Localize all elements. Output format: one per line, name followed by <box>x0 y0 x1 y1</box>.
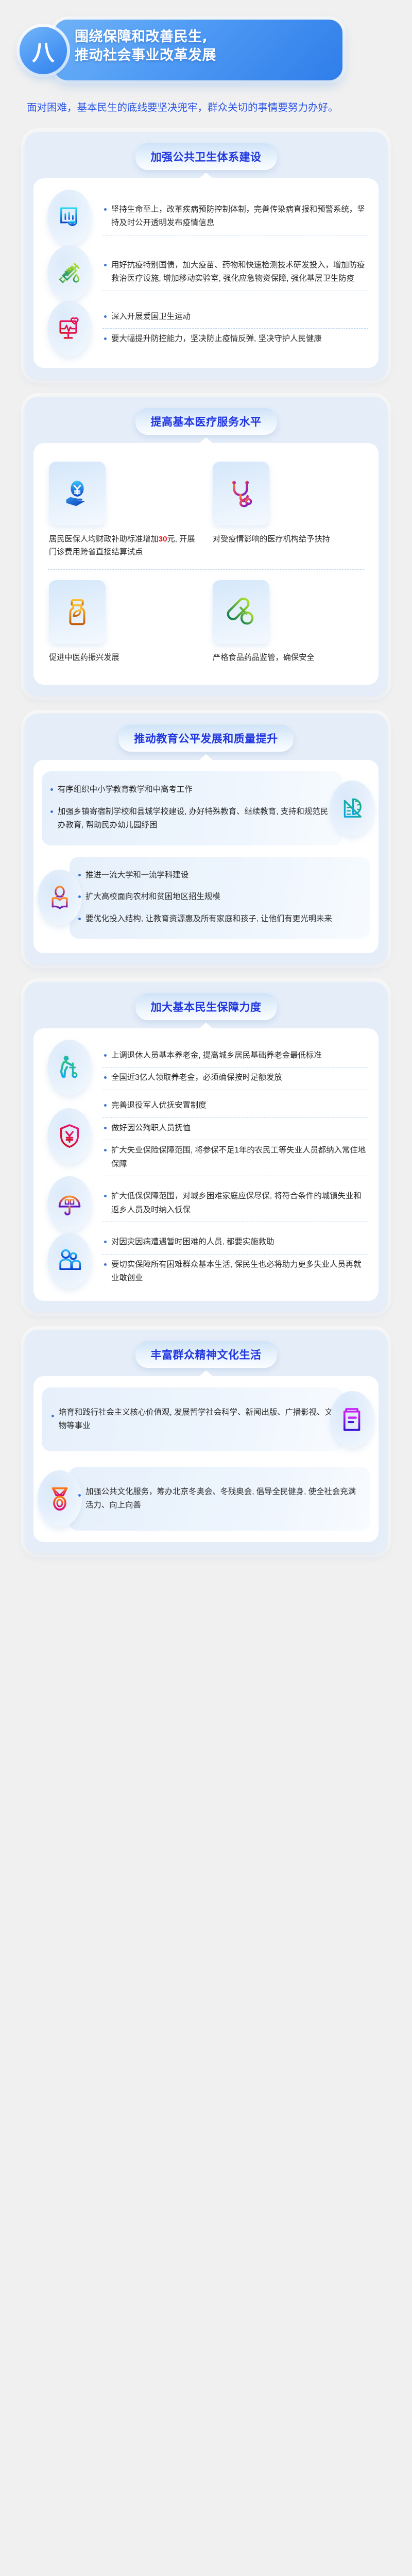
hand-yuan-coin-icon <box>49 462 106 526</box>
section-title-public-health: 加强公共卫生体系建设 <box>135 143 277 170</box>
list-item: 坚持生命至上，改革疾病预防控制体制，完善传染病直报和预警系统，坚持及时公开透明发… <box>102 199 368 235</box>
item-divider <box>102 291 368 291</box>
header-plate: 围绕保障和改善民生, 推动社会事业改革发展 <box>54 20 342 80</box>
grid-cell-text: 促进中医药振兴发展 <box>49 651 199 665</box>
medicine-bottle-leaf-icon <box>49 580 106 644</box>
section-title-livelihood: 加大基本民生保障力度 <box>135 993 277 1020</box>
list-row: 对因灾因病遭遇暂时困难的人员, 都要实施救助 要切实保障所有困难群众基本生活, … <box>42 1232 370 1290</box>
grid-divider <box>48 569 364 570</box>
list-row: 完善退役军人优抚安置制度 做好因公殉职人员抚恤 扩大失业保险保障范围, 将参保不… <box>42 1095 370 1176</box>
list-item: 做好因公殉职人员抚恤 <box>102 1118 368 1140</box>
text-cell: 深入开展爱国卫生运动 要大幅提升防控能力，坚决防止疫情反弹, 坚决守护人民健康 <box>102 307 370 351</box>
page-title-line-2: 推动社会事业改革发展 <box>75 46 335 65</box>
grid-cell-text: 严格食品药品监管，确保安全 <box>213 651 363 665</box>
two-people-icon <box>47 1233 92 1289</box>
panel-gap <box>42 849 370 857</box>
list-row: 坚持生命至上，改革疾病预防控制体制，完善传染病直报和预警系统，坚持及时公开透明发… <box>42 190 370 245</box>
shield-yuan-icon <box>47 1108 92 1164</box>
list-item: 用好抗疫特别国债，加大疫苗、药物和快速检测技术研发投入，增加防疫救治医疗设施, … <box>102 255 368 291</box>
text-cell: 对因灾因病遭遇暂时困难的人员, 都要实施救助 要切实保障所有困难群众基本生活, … <box>102 1232 370 1290</box>
item-divider <box>102 1222 368 1222</box>
text-cell: 扩大低保保障范围，对城乡困难家庭应保尽保, 将符合条件的城镇失业和返乡人员及时纳… <box>102 1186 370 1222</box>
list-item: 加强公共文化服务，筹办北京冬奥会、冬残奥会, 倡导全民健身, 使全社会充满活力、… <box>77 1485 362 1513</box>
page-title-line-1: 围绕保障和改善民生, <box>75 28 335 46</box>
text-cell: 完善退役军人优抚安置制度 做好因公殉职人员抚恤 扩大失业保险保障范围, 将参保不… <box>102 1095 370 1176</box>
section-body-culture: 培育和践行社会主义核心价值观, 发展哲学社会科学、新闻出版、广播影视、文物等事业 <box>33 1376 379 1542</box>
list-item: 有序组织中小学教育教学和中高考工作 <box>49 779 335 801</box>
book-document-icon <box>330 1391 374 1448</box>
culture-text: 加强公共文化服务，筹办北京冬奥会、冬残奥会, 倡导全民健身, 使全社会充满活力、… <box>77 1485 362 1513</box>
capsule-pill-icon <box>213 580 269 644</box>
section-title-culture: 丰富群众精神文化生活 <box>135 1341 277 1368</box>
stethoscope-icon <box>213 462 269 526</box>
section-livelihood: 加大基本民生保障力度 <box>25 982 387 1312</box>
section-culture: 丰富群众精神文化生活 培育和践行社会主义核心价值观, 发展哲学社会科学、新闻出版… <box>25 1330 387 1553</box>
infographic-page: 围绕保障和改善民生, 推动社会事业改革发展 八 面对困难，基本民生的底线要坚决兜… <box>0 0 412 1584</box>
section-title-education: 推动教育公平发展和质量提升 <box>118 725 294 752</box>
section-body-medical-service: 居民医保人均财政补助标准增加30元, 开展门诊费用跨省直接结算试点 <box>33 443 379 685</box>
section-medical-service: 提高基本医疗服务水平 <box>25 397 387 697</box>
grid-cell-text: 对受疫情影响的医疗机构给予扶持 <box>213 533 363 546</box>
icon-cell <box>42 301 97 357</box>
elderly-walker-icon <box>47 1040 92 1095</box>
icon-cell <box>42 1176 97 1232</box>
culture-text: 培育和践行社会主义核心价值观, 发展哲学社会科学、新闻出版、广播影视、文物等事业 <box>50 1406 335 1433</box>
intro-paragraph: 面对困难，基本民生的底线要坚决兜牢，群众关切的事情要努力办好。 <box>27 100 385 116</box>
list-item: 深入开展爱国卫生运动 <box>102 307 368 328</box>
list-item: 加强乡镇寄宿制学校和县城学校建设, 办好特殊教育、继续教育, 支持和规范民办教育… <box>49 802 335 837</box>
highlight-value: 30 <box>159 535 167 544</box>
section-education: 推动教育公平发展和质量提升 有序组织中小学教育教学和中高考工作 加强乡镇寄宿制学… <box>25 714 387 964</box>
icon-cell <box>42 1233 97 1289</box>
list-item: 上调退休人员基本养老金, 提高城乡居民基础养老金最低标准 <box>102 1045 368 1067</box>
ruler-protractor-icon <box>330 781 374 836</box>
grid-cell: 促进中医药振兴发展 <box>46 576 202 672</box>
section-title-medical-service: 提高基本医疗服务水平 <box>135 408 277 435</box>
icon-cell <box>42 1040 97 1095</box>
education-text: 推进一流大学和一流学科建设 扩大高校面向农村和贫困地区招生规模 要优化投入结构,… <box>77 865 363 930</box>
text-cell: 上调退休人员基本养老金, 提高城乡居民基础养老金最低标准 全国近3亿人领取养老金… <box>102 1045 370 1090</box>
page-title: 围绕保障和改善民生, 推动社会事业改革发展 <box>75 28 335 64</box>
culture-panel-public-service: 加强公共文化服务，筹办北京冬奥会、冬残奥会, 倡导全民健身, 使全社会充满活力、… <box>68 1467 370 1531</box>
section-number-badge: 八 <box>20 27 67 74</box>
section-public-health: 加强公共卫生体系建设 <box>25 132 387 379</box>
syringe-vaccine-icon <box>47 245 92 301</box>
list-item: 扩大高校面向农村和贫困地区招生规模 <box>77 887 363 908</box>
section-body-public-health: 坚持生命至上，改革疾病预防控制体制，完善传染病直报和预警系统，坚持及时公开透明发… <box>33 178 379 368</box>
monitor-chart-eye-icon <box>47 190 92 245</box>
icon-cell <box>42 1108 97 1164</box>
item-divider <box>102 1090 368 1090</box>
text-cell: 用好抗疫特别国债，加大疫苗、药物和快速检测技术研发投入，增加防疫救治医疗设施, … <box>102 255 370 291</box>
icon-cell <box>42 245 97 301</box>
list-item: 要大幅提升防控能力，坚决防止疫情反弹, 坚决守护人民健康 <box>102 329 368 350</box>
icon-grid: 居民医保人均财政补助标准增加30元, 开展门诊费用跨省直接结算试点 <box>42 454 370 674</box>
list-item: 要切实保障所有困难群众基本生活, 保民生也必将助力更多失业人员再就业敢创业 <box>102 1255 368 1290</box>
education-panel-higher: 推进一流大学和一流学科建设 扩大高校面向农村和贫困地区招生规模 要优化投入结构,… <box>70 857 370 939</box>
list-item: 对因灾因病遭遇暂时困难的人员, 都要实施救助 <box>102 1232 368 1253</box>
education-text: 有序组织中小学教育教学和中高考工作 加强乡镇寄宿制学校和县城学校建设, 办好特殊… <box>49 779 335 837</box>
page-header: 围绕保障和改善民生, 推动社会事业改革发展 八 <box>0 0 412 98</box>
panel-gap <box>42 1451 370 1467</box>
icon-cell <box>42 190 97 245</box>
list-item: 培育和践行社会主义核心价值观, 发展哲学社会科学、新闻出版、广播影视、文物等事业 <box>50 1406 335 1433</box>
education-panel-basic: 有序组织中小学教育教学和中高考工作 加强乡镇寄宿制学校和县城学校建设, 办好特殊… <box>42 771 342 845</box>
grid-cell: 对受疫情影响的医疗机构给予扶持 <box>210 457 366 566</box>
text-cell: 坚持生命至上，改革疾病预防控制体制，完善传染病直报和预警系统，坚持及时公开透明发… <box>102 199 370 235</box>
item-divider <box>102 1176 368 1176</box>
heart-monitor-icon <box>47 301 92 357</box>
list-item: 完善退役军人优抚安置制度 <box>102 1095 368 1117</box>
list-item: 扩大低保保障范围，对城乡困难家庭应保尽保, 将符合条件的城镇失业和返乡人员及时纳… <box>102 1186 368 1222</box>
grid-cell: 居民医保人均财政补助标准增加30元, 开展门诊费用跨省直接结算试点 <box>46 457 202 566</box>
section-body-livelihood: 上调退休人员基本养老金, 提高城乡居民基础养老金最低标准 全国近3亿人领取养老金… <box>33 1028 379 1301</box>
list-item: 要优化投入结构, 让教育资源惠及所有家庭和孩子, 让他们有更光明未来 <box>77 909 363 930</box>
section-body-education: 有序组织中小学教育教学和中高考工作 加强乡镇寄宿制学校和县城学校建设, 办好特殊… <box>33 760 379 953</box>
medal-icon <box>38 1470 82 1527</box>
umbrella-bao-icon <box>47 1176 92 1232</box>
culture-panel-values: 培育和践行社会主义核心价值观, 发展哲学社会科学、新闻出版、广播影视、文物等事业 <box>42 1387 344 1451</box>
list-row: 上调退休人员基本养老金, 提高城乡居民基础养老金最低标准 全国近3亿人领取养老金… <box>42 1040 370 1095</box>
grid-text-before: 居民医保人均财政补助标准增加 <box>49 535 159 544</box>
list-row: 用好抗疫特别国债，加大疫苗、药物和快速检测技术研发投入，增加防疫救治医疗设施, … <box>42 245 370 301</box>
grid-cell: 严格食品药品监管，确保安全 <box>210 576 366 672</box>
list-item: 扩大失业保险保障范围, 将参保不足1年的农民工等失业人员都纳入常住地保障 <box>102 1140 368 1176</box>
grid-cell-text: 居民医保人均财政补助标准增加30元, 开展门诊费用跨省直接结算试点 <box>49 533 199 559</box>
list-item: 全国近3亿人领取养老金，必须确保按时足额发放 <box>102 1067 368 1089</box>
student-open-book-icon <box>38 870 82 925</box>
list-item: 推进一流大学和一流学科建设 <box>77 865 363 887</box>
item-divider <box>102 235 368 235</box>
list-row: 扩大低保保障范围，对城乡困难家庭应保尽保, 将符合条件的城镇失业和返乡人员及时纳… <box>42 1176 370 1232</box>
list-row: 深入开展爱国卫生运动 要大幅提升防控能力，坚决防止疫情反弹, 坚决守护人民健康 <box>42 301 370 357</box>
